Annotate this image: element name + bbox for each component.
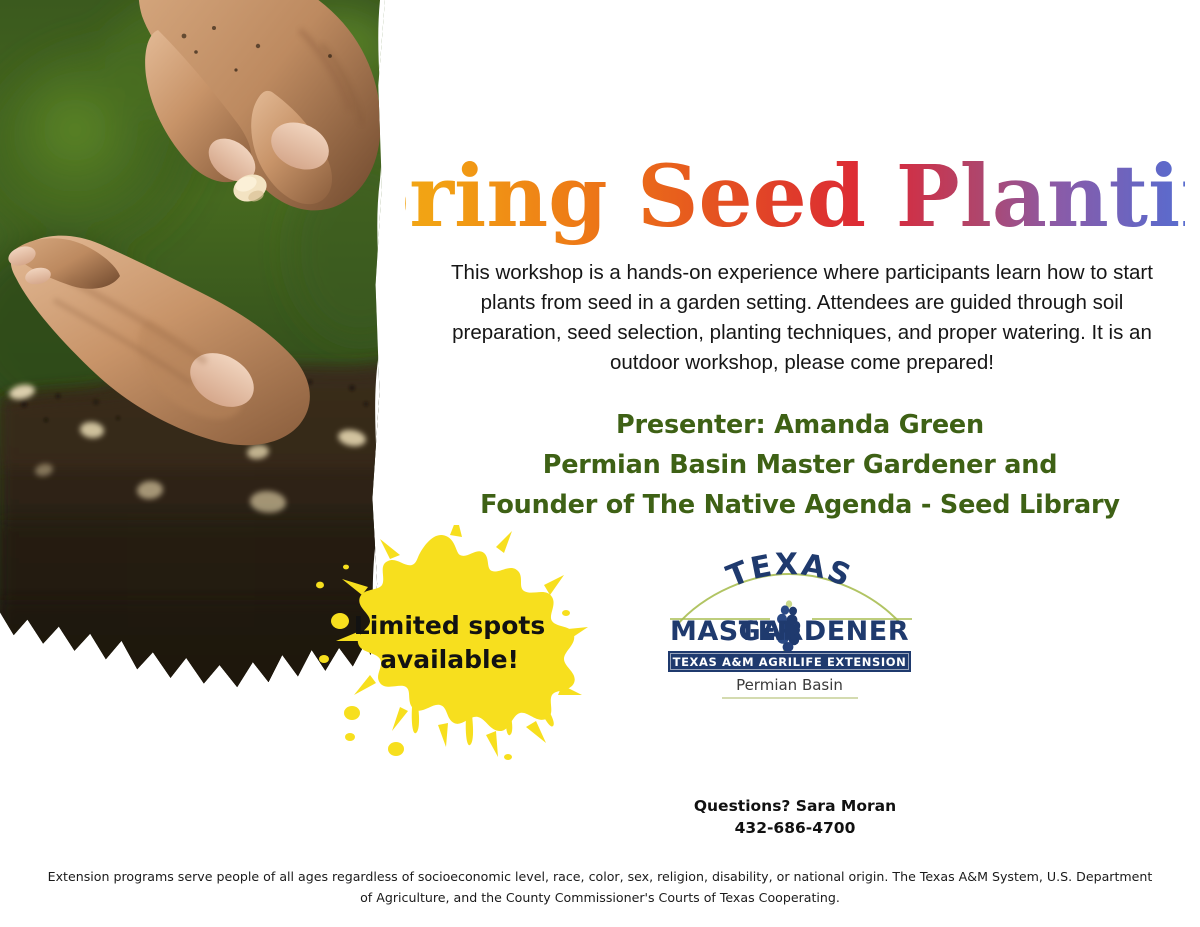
logo-gardener-text: GARDENER xyxy=(738,616,909,647)
flyer-title-text: Spring Seed Planting xyxy=(405,148,1185,247)
legal-disclaimer: Extension programs serve people of all a… xyxy=(40,866,1160,908)
logo-banner-text: TEXAS A&M AGRILIFE EXTENSION xyxy=(673,655,907,669)
texas-master-gardener-logo: TEXAS xyxy=(662,548,917,703)
presenter-line-2: Permian Basin Master Gardener and xyxy=(420,445,1180,485)
presenter-info: Presenter: Amanda Green Permian Basin Ma… xyxy=(420,405,1180,525)
disclaimer-line-2: Agriculture, and the County Commissioner… xyxy=(376,890,840,905)
content-column: Spring Seed Planting This workshop is a … xyxy=(400,0,1200,927)
contact-name: Questions? Sara Moran xyxy=(400,795,1190,817)
presenter-line-1: Presenter: Amanda Green xyxy=(420,405,1180,445)
flyer-title: Spring Seed Planting xyxy=(400,148,1190,252)
logo-arc-text: TEXAS xyxy=(722,548,857,595)
workshop-description: This workshop is a hands-on experience w… xyxy=(432,258,1172,378)
contact-phone: 432-686-4700 xyxy=(400,817,1190,839)
flyer-title-artwork: Spring Seed Planting xyxy=(405,148,1185,252)
contact-info: Questions? Sara Moran 432-686-4700 xyxy=(400,795,1190,839)
presenter-line-3: Founder of The Native Agenda - Seed Libr… xyxy=(420,485,1180,525)
logo-subtitle: Permian Basin xyxy=(736,676,843,694)
logo-artwork: TEXAS xyxy=(662,548,917,703)
flyer-canvas: Limited spots available! xyxy=(0,0,1200,927)
